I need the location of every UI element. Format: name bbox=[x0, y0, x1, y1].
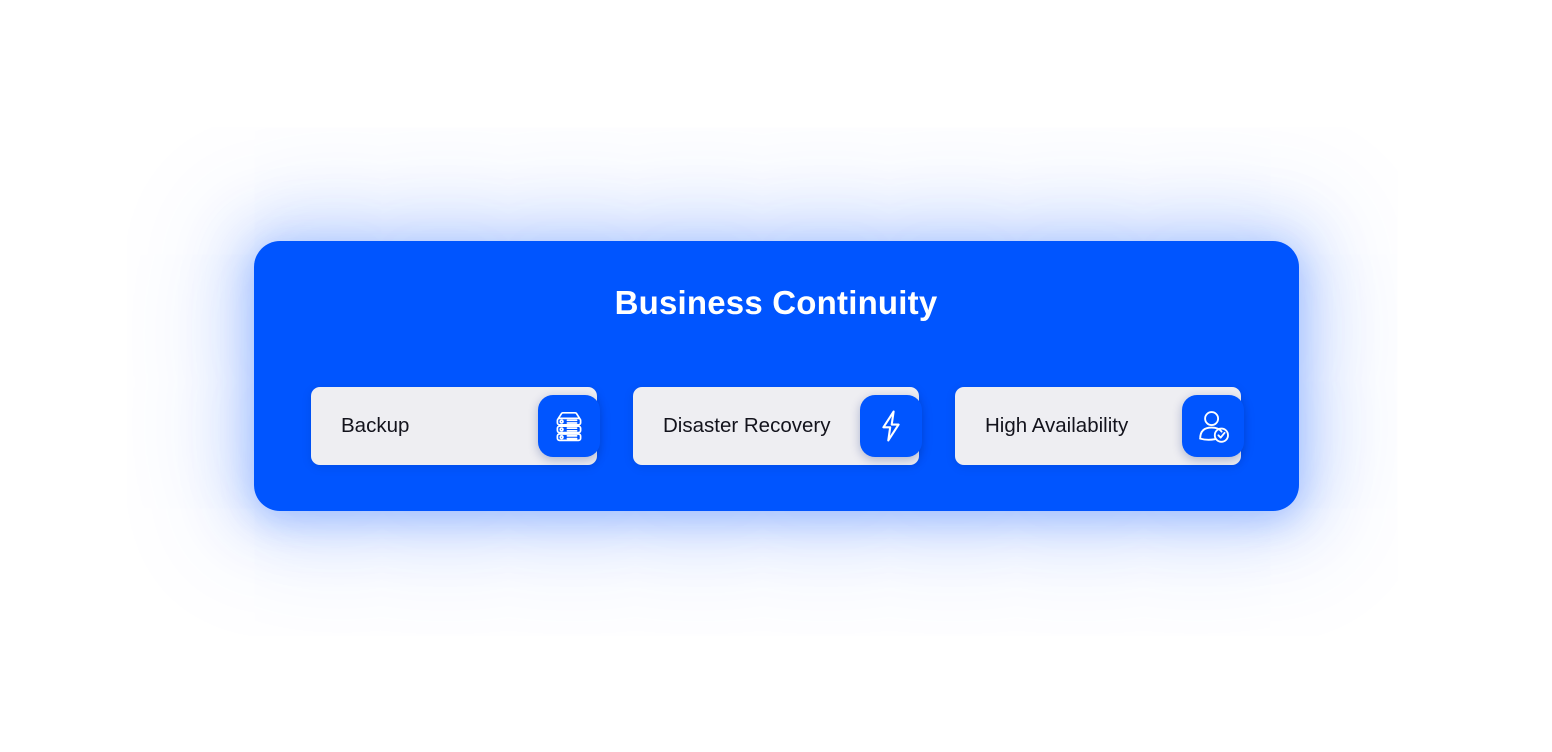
card-high-availability[interactable]: High Availability bbox=[955, 387, 1241, 465]
server-rack-icon bbox=[538, 395, 600, 457]
page-title: Business Continuity bbox=[615, 286, 938, 319]
user-check-icon bbox=[1182, 395, 1244, 457]
card-backup[interactable]: Backup bbox=[311, 387, 597, 465]
stage: Business Continuity Backup bbox=[0, 0, 1552, 752]
card-high-availability-label: High Availability bbox=[985, 412, 1128, 440]
capability-card-row: Backup bbox=[311, 387, 1241, 465]
card-disaster-recovery-label: Disaster Recovery bbox=[663, 412, 830, 440]
card-backup-label: Backup bbox=[341, 412, 409, 440]
business-continuity-panel: Business Continuity Backup bbox=[254, 241, 1299, 511]
card-disaster-recovery[interactable]: Disaster Recovery bbox=[633, 387, 919, 465]
lightning-bolt-icon bbox=[860, 395, 922, 457]
